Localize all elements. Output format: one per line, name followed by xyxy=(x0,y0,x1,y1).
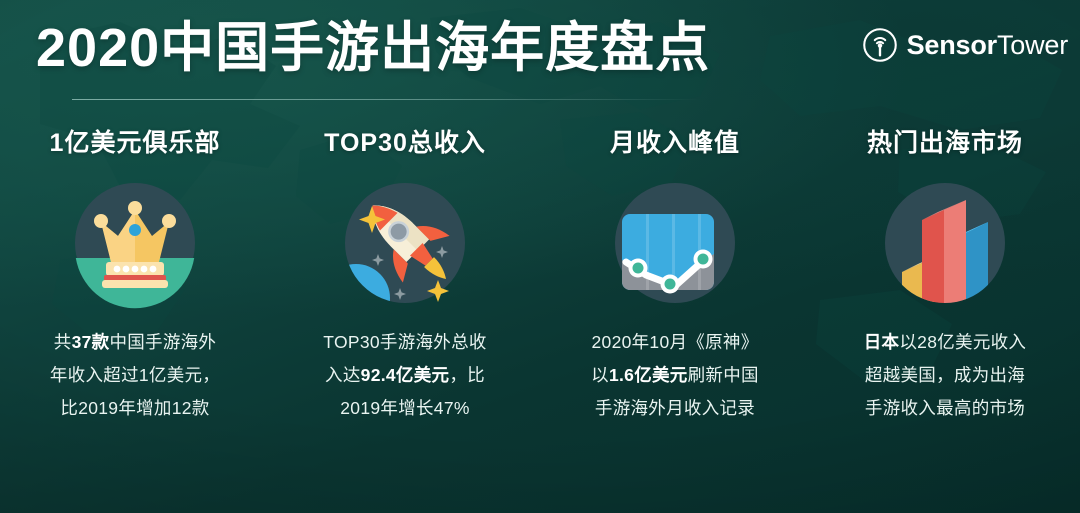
caption-text: 2020年10月《原神》 xyxy=(592,332,759,352)
caption-text: TOP30手游海外总收 xyxy=(323,332,486,352)
caption-line: 入达92.4亿美元，比 xyxy=(280,359,530,392)
line-chart-icon xyxy=(608,176,742,310)
column-heading: 热门出海市场 xyxy=(867,128,1023,158)
stat-column-monthly-revenue-peak: 月收入峰值 xyxy=(540,128,810,425)
caption-line: 2019年增长47% xyxy=(280,392,530,425)
caption-text: 年收入超过1亿美元， xyxy=(50,365,220,385)
page-title: 2020中国手游出海年度盘点 xyxy=(36,14,710,82)
stat-column-top-overseas-markets: 热门出海市场 xyxy=(810,128,1080,425)
brand-logo: SensorTower xyxy=(862,27,1068,63)
caption-line: 共37款中国手游海外 xyxy=(10,326,260,359)
header-divider xyxy=(72,99,702,100)
sensortower-antenna-icon xyxy=(862,27,898,63)
column-heading: 月收入峰值 xyxy=(610,128,740,158)
column-heading: 1亿美元俱乐部 xyxy=(50,128,221,158)
caption-text: 以28亿美元收入 xyxy=(899,332,1026,352)
caption-line: 超越美国，成为出海 xyxy=(820,359,1070,392)
caption-line: 日本以28亿美元收入 xyxy=(820,326,1070,359)
brand-name-bold: Sensor xyxy=(907,30,997,60)
caption-line: 年收入超过1亿美元， xyxy=(10,359,260,392)
brand-wordmark: SensorTower xyxy=(907,30,1068,60)
infographic-poster: 2020中国手游出海年度盘点 SensorTower 1亿美元俱乐部 xyxy=(0,0,1080,513)
rocket-icon xyxy=(338,176,472,310)
caption-text: 比2019年增加12款 xyxy=(60,398,209,418)
crown-icon xyxy=(68,176,202,310)
caption-text: 超越美国，成为出海 xyxy=(865,365,1025,385)
column-caption: 日本以28亿美元收入 超越美国，成为出海 手游收入最高的市场 xyxy=(820,326,1070,425)
caption-text: 手游收入最高的市场 xyxy=(865,398,1025,418)
bar-chart-icon xyxy=(878,176,1012,310)
caption-text: 2019年增长47% xyxy=(340,398,469,418)
caption-text: 入达 xyxy=(325,365,361,385)
caption-line: 以1.6亿美元刷新中国 xyxy=(550,359,800,392)
caption-line: 比2019年增加12款 xyxy=(10,392,260,425)
caption-text: 中国手游海外 xyxy=(109,332,216,352)
caption-line: 2020年10月《原神》 xyxy=(550,326,800,359)
caption-highlight: 1.6亿美元 xyxy=(609,365,688,385)
caption-line: 手游收入最高的市场 xyxy=(820,392,1070,425)
column-caption: TOP30手游海外总收 入达92.4亿美元，比 2019年增长47% xyxy=(280,326,530,425)
caption-text: ，比 xyxy=(449,365,485,385)
caption-text: 共 xyxy=(54,332,72,352)
caption-highlight: 日本 xyxy=(864,332,900,352)
caption-highlight: 37款 xyxy=(72,332,110,352)
caption-line: TOP30手游海外总收 xyxy=(280,326,530,359)
caption-text: 手游海外月收入记录 xyxy=(595,398,755,418)
column-caption: 2020年10月《原神》 以1.6亿美元刷新中国 手游海外月收入记录 xyxy=(550,326,800,425)
stat-column-hundred-million-club: 1亿美元俱乐部 xyxy=(0,128,270,425)
brand-name-light: Tower xyxy=(997,30,1068,60)
caption-text: 以 xyxy=(591,365,609,385)
stat-column-top30-total-revenue: TOP30总收入 xyxy=(270,128,540,425)
caption-line: 手游海外月收入记录 xyxy=(550,392,800,425)
column-heading: TOP30总收入 xyxy=(324,128,486,158)
header: 2020中国手游出海年度盘点 SensorTower xyxy=(0,0,1080,100)
caption-text: 刷新中国 xyxy=(688,365,759,385)
column-caption: 共37款中国手游海外 年收入超过1亿美元， 比2019年增加12款 xyxy=(10,326,260,425)
caption-highlight: 92.4亿美元 xyxy=(361,365,450,385)
stat-columns: 1亿美元俱乐部 xyxy=(0,128,1080,425)
